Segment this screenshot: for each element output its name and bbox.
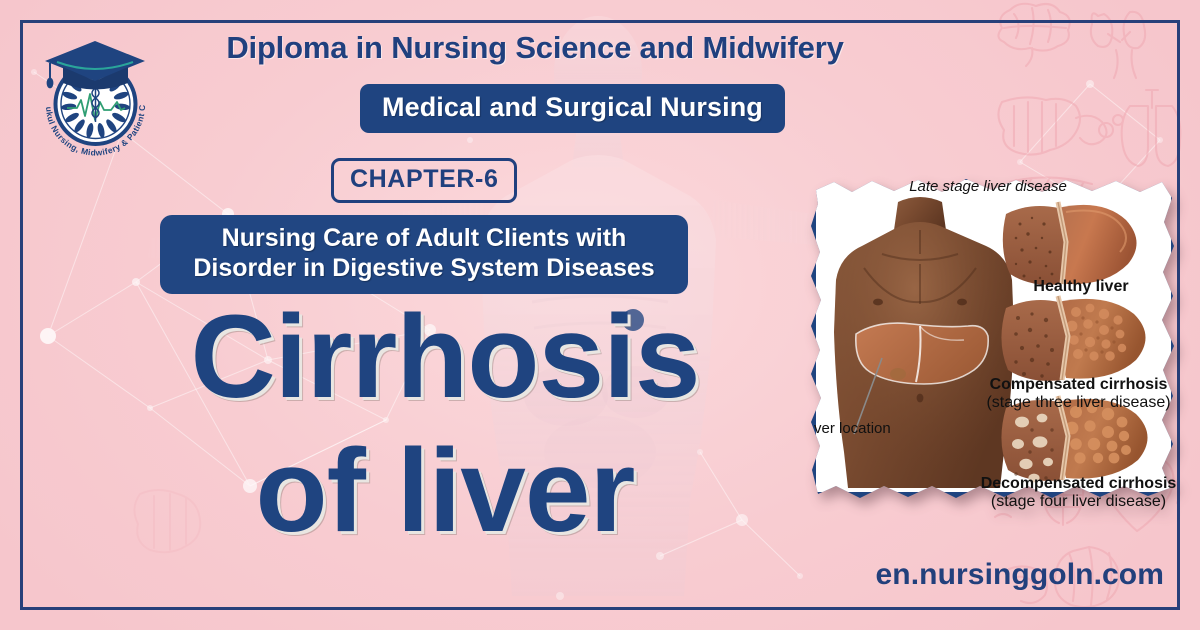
stage-sublabel: (stage four liver disease) — [971, 493, 1186, 511]
panel-label-decompensated-cirrhosis: Decompensated cirrhosis (stage four live… — [971, 475, 1186, 511]
page-title-line-2: of liver — [105, 434, 785, 550]
panel-label-compensated-cirrhosis: Compensated cirrhosis (stage three liver… — [971, 376, 1186, 412]
page-title: Cirrhosis of liver — [105, 300, 785, 549]
panel-caption-late-stage: Late stage liver disease — [858, 178, 1118, 195]
course-title: Diploma in Nursing Science and Midwifery — [0, 30, 1200, 66]
stage-name: Decompensated cirrhosis — [981, 475, 1177, 492]
banner-canvas: Gurukul Nursing, Midwifery & Patient Car… — [0, 0, 1200, 630]
chapter-subject-banner: Nursing Care of Adult Clients with Disor… — [160, 215, 688, 294]
page-title-line-1: Cirrhosis — [190, 291, 699, 423]
liver-panel-graphic — [806, 168, 1181, 503]
liver-stages-illustration-panel: Late stage liver disease ver location He… — [806, 168, 1181, 503]
stage-sublabel: (stage three liver disease) — [971, 394, 1186, 412]
chapter-subject-line-2: Disorder in Digestive System Diseases — [174, 254, 674, 284]
panel-label-liver-location: ver location — [814, 420, 934, 437]
website-url: en.nursinggoln.com — [876, 558, 1164, 592]
chapter-subject-line-1: Nursing Care of Adult Clients with — [174, 224, 674, 254]
stage-name: Compensated cirrhosis — [990, 376, 1168, 393]
panel-label-healthy-liver: Healthy liver — [991, 278, 1171, 296]
chapter-badge: CHAPTER-6 — [331, 158, 517, 203]
subject-pill: Medical and Surgical Nursing — [360, 84, 785, 133]
